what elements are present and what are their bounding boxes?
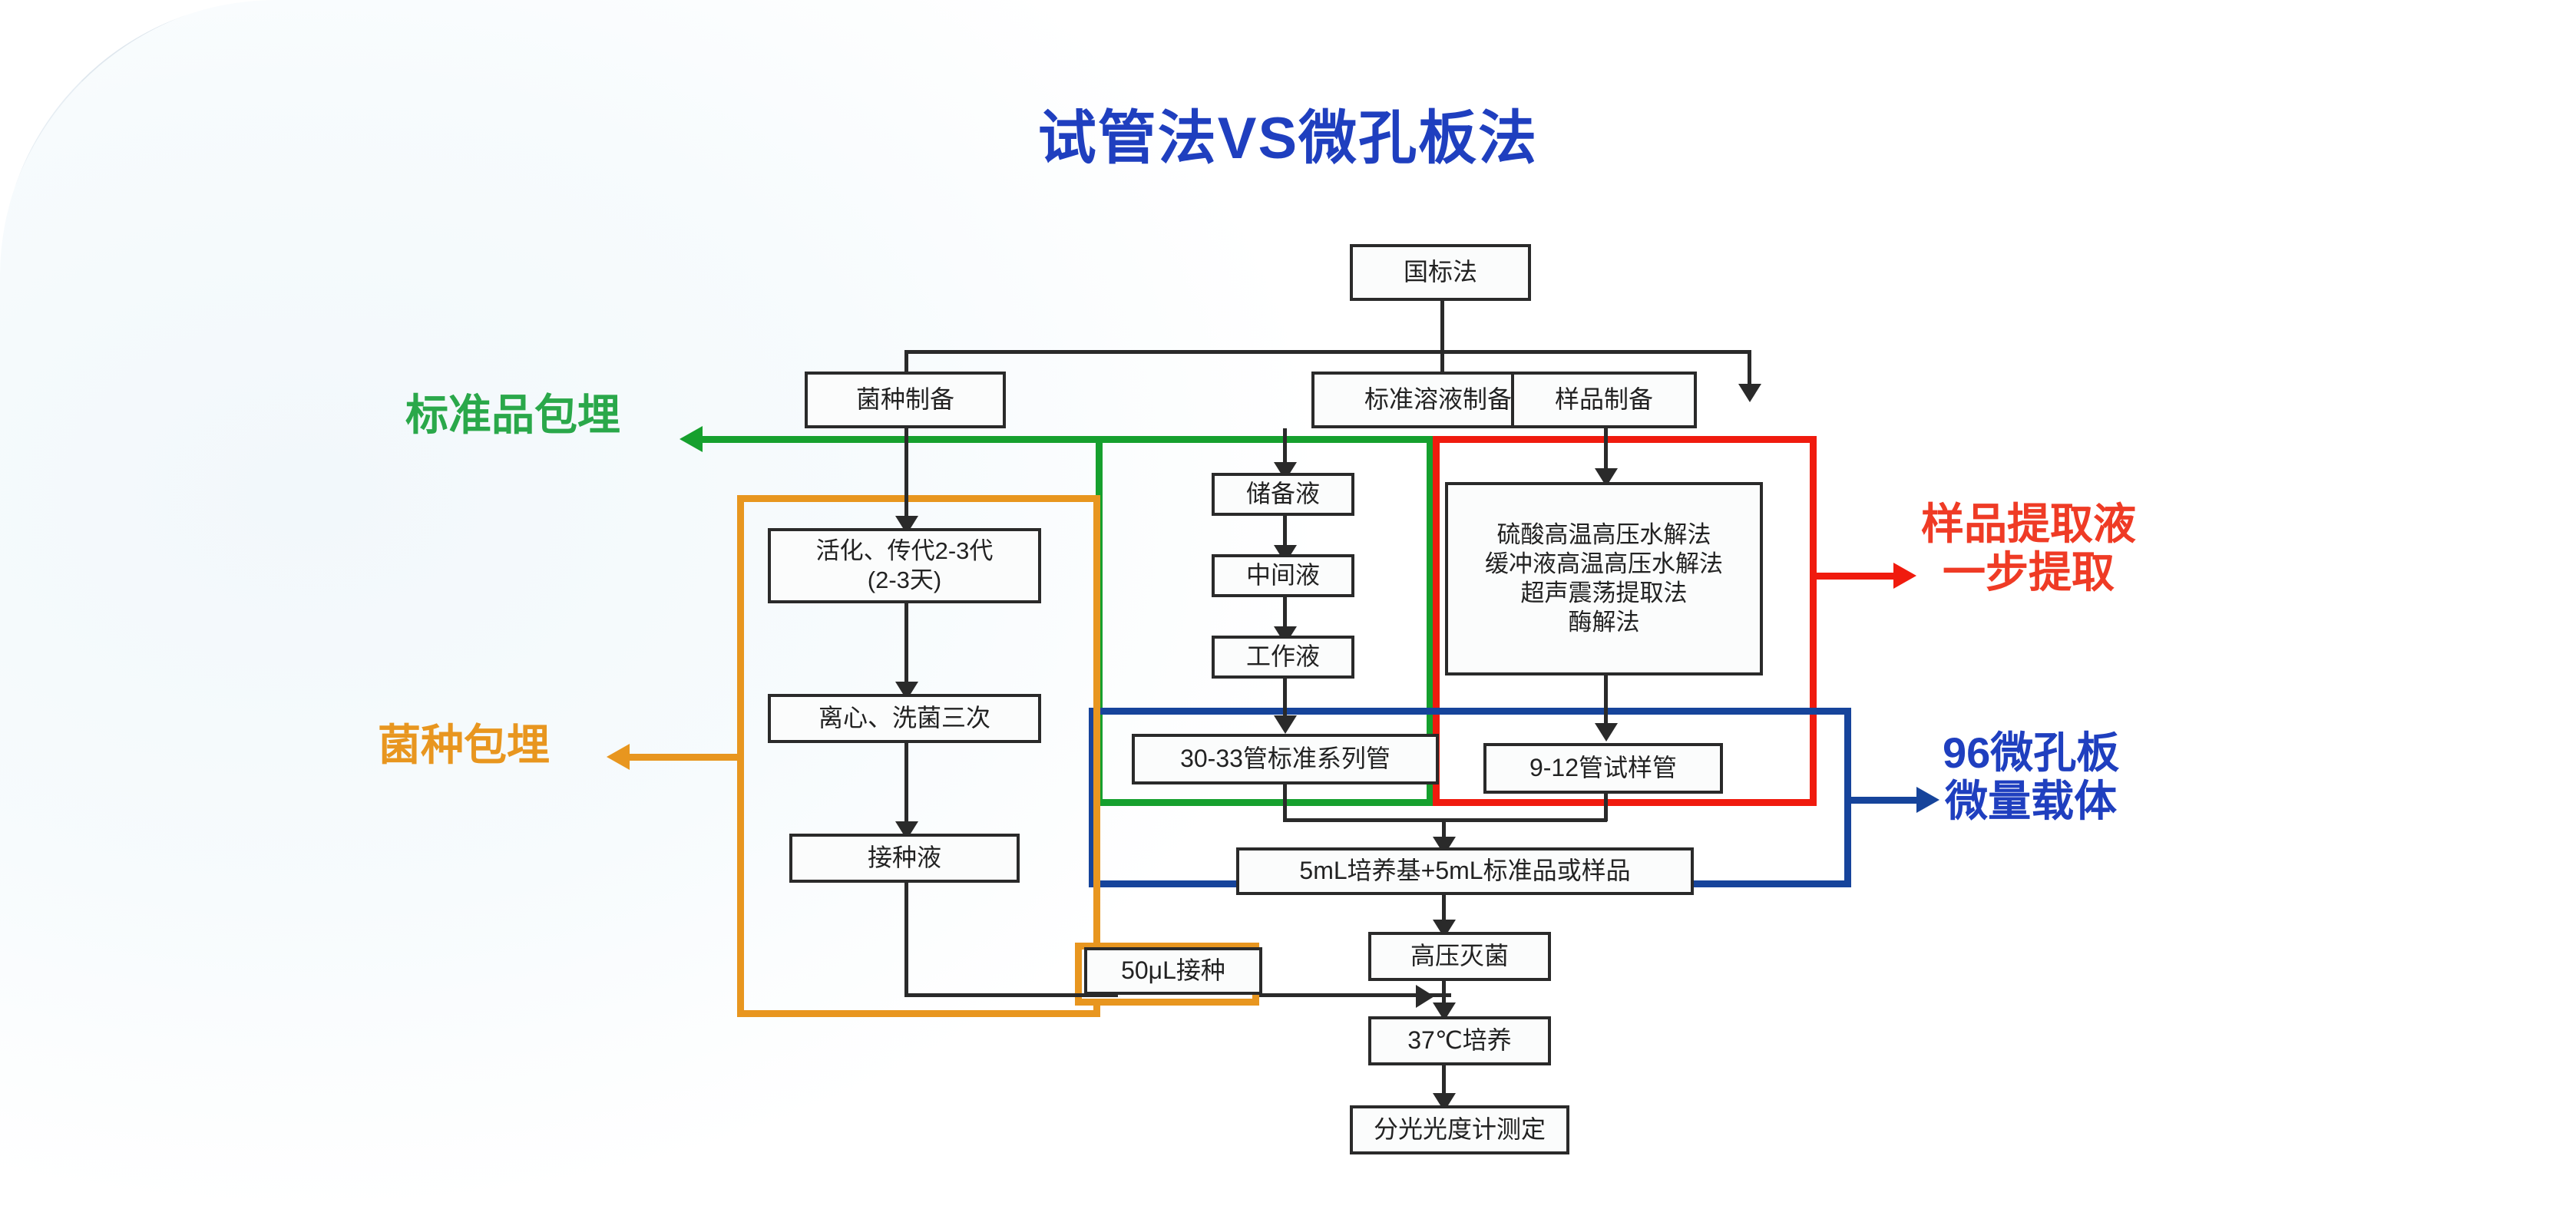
connector-root-down [1440,299,1444,350]
node-prep-sample[interactable]: 样品制备 [1511,372,1697,428]
node-intermediate[interactable]: 中间液 [1212,554,1354,597]
node-activate[interactable]: 活化、传代2-3代 (2-3天) [768,528,1041,603]
annotation-strain-encapsulation: 菌种包埋 [378,722,550,770]
connector-strain-to-activate [904,428,908,528]
node-sample-tubes[interactable]: 9-12管试样管 [1483,743,1723,794]
arrowhead-inoculate-join [1416,985,1434,1008]
node-root[interactable]: 国标法 [1350,244,1531,301]
node-prep-strain[interactable]: 菌种制备 [805,372,1006,428]
connector-bus-horizontal [904,350,1749,354]
connector-centrifuge-to-inoculum [904,743,908,834]
connector-activate-to-centrifuge [904,603,908,694]
node-inoculum[interactable]: 接种液 [789,834,1020,883]
page-title: 试管法VS微孔板法 [0,91,2576,175]
node-standard-tubes[interactable]: 30-33管标准系列管 [1132,734,1439,784]
node-centrifuge[interactable]: 离心、洗菌三次 [768,694,1041,743]
annotation-microplate: 96微孔板 微量载体 [1943,729,2119,825]
node-extraction-methods[interactable]: 硫酸高温高压水解法 缓冲液高温高压水解法 超声震荡提取法 酶解法 [1445,482,1763,675]
node-incubate[interactable]: 37℃培养 [1368,1016,1551,1065]
annotation-standard-encapsulation: 标准品包埋 [405,391,620,440]
arrowhead-to-prep-sample [1738,384,1761,402]
node-working[interactable]: 工作液 [1212,636,1354,679]
node-inoculate-50ul[interactable]: 50μL接种 [1084,947,1262,995]
node-medium-mix[interactable]: 5mL培养基+5mL标准品或样品 [1236,847,1694,895]
connector-inoculum-down [904,883,908,996]
node-stock[interactable]: 储备液 [1212,473,1354,516]
node-spectrophotometer[interactable]: 分光光度计测定 [1350,1105,1569,1154]
diagram-canvas: 试管法VS微孔板法 [0,0,2576,1232]
connector-standard-tubes-down [1283,784,1287,821]
annotation-sample-extract: 样品提取液 一步提取 [1921,500,2136,596]
arrowhead-to-sample-tubes [1595,723,1618,742]
node-autoclave[interactable]: 高压灭菌 [1368,932,1551,981]
arrowhead-to-standard-tubes [1274,715,1297,734]
